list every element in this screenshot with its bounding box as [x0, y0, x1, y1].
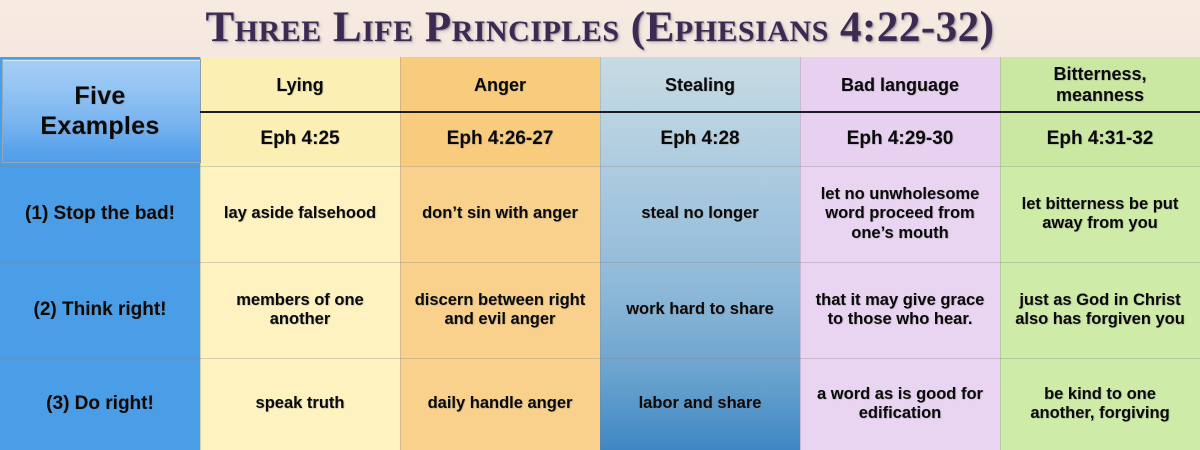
- cell-line: that it may give grace: [816, 291, 985, 310]
- table-cell: lay aside falsehood: [200, 166, 400, 262]
- table-cell: let bitterness be put away from you: [1000, 166, 1200, 262]
- cell-line: away from you: [1022, 214, 1179, 233]
- table-cell: a word as is good for edification: [800, 358, 1000, 450]
- column-header-label: Bitterness, meanness: [1007, 64, 1193, 106]
- column-header-stealing: Stealing: [600, 57, 800, 113]
- column-reference-label: Eph 4:26-27: [447, 128, 554, 150]
- cell-line: another, forgiving: [1030, 404, 1169, 423]
- cell-line: edification: [817, 404, 983, 423]
- column-header-label: Anger: [474, 75, 526, 96]
- cell-line: let no unwholesome: [821, 185, 980, 204]
- column-header-label: Bad language: [841, 75, 959, 96]
- column-header-lying: Lying: [200, 57, 400, 113]
- column-reference-label: Eph 4:31-32: [1047, 128, 1154, 150]
- cell-line: a word as is good for: [817, 385, 983, 404]
- cell-line: just as God in Christ: [1015, 291, 1185, 310]
- table-cell: labor and share: [600, 358, 800, 450]
- cell-line: lay aside falsehood: [224, 204, 376, 223]
- column-header-anger: Anger: [400, 57, 600, 113]
- column-reference-label: Eph 4:25: [260, 128, 339, 150]
- column-reference-bitterness: Eph 4:31-32: [1000, 113, 1200, 166]
- cell-line: speak truth: [256, 394, 345, 413]
- column-reference-lying: Eph 4:25: [200, 113, 400, 166]
- column-reference-stealing: Eph 4:28: [600, 113, 800, 166]
- column-reference-anger: Eph 4:26-27: [400, 113, 600, 166]
- cell-line: one’s mouth: [821, 224, 980, 243]
- cell-line: don’t sin with anger: [422, 204, 578, 223]
- table-cell: daily handle anger: [400, 358, 600, 450]
- cell-line: work hard to share: [626, 300, 774, 319]
- cell-line: also has forgiven you: [1015, 310, 1185, 329]
- column-header-bad-language: Bad language: [800, 57, 1000, 113]
- table-cell: let no unwholesome word proceed from one…: [800, 166, 1000, 262]
- cell-line: to those who hear.: [816, 310, 985, 329]
- table-cell: members of one another: [200, 262, 400, 358]
- cell-line: another: [236, 310, 363, 329]
- column-reference-label: Eph 4:28: [660, 128, 739, 150]
- row-label-text: (3) Do right!: [46, 393, 154, 415]
- table-cell: don’t sin with anger: [400, 166, 600, 262]
- cell-line: discern between right: [415, 291, 586, 310]
- cell-line: members of one: [236, 291, 363, 310]
- row-label-text: (2) Think right!: [34, 299, 167, 321]
- corner-cell-examples: Five Examples: [0, 57, 200, 166]
- table-cell: steal no longer: [600, 166, 800, 262]
- table-cell: that it may give grace to those who hear…: [800, 262, 1000, 358]
- table-cell: discern between right and evil anger: [400, 262, 600, 358]
- slide-canvas: Three Life Principles (Ephesians 4:22-32…: [0, 0, 1200, 450]
- corner-label-line1: Five: [40, 82, 159, 112]
- corner-label-line2: Examples: [40, 112, 159, 142]
- column-reference-bad-language: Eph 4:29-30: [800, 113, 1000, 166]
- table-cell: just as God in Christ also has forgiven …: [1000, 262, 1200, 358]
- row-label-do-right: (3) Do right!: [0, 358, 200, 450]
- row-label-stop-the-bad: (1) Stop the bad!: [0, 166, 200, 262]
- cell-line: daily handle anger: [428, 394, 573, 413]
- column-reference-label: Eph 4:29-30: [847, 128, 954, 150]
- table-cell: be kind to one another, forgiving: [1000, 358, 1200, 450]
- row-label-text: (1) Stop the bad!: [25, 203, 175, 225]
- column-header-bitterness: Bitterness, meanness: [1000, 57, 1200, 113]
- table-cell: work hard to share: [600, 262, 800, 358]
- cell-line: and evil anger: [415, 310, 586, 329]
- table-cell: speak truth: [200, 358, 400, 450]
- row-label-think-right: (2) Think right!: [0, 262, 200, 358]
- cell-line: word proceed from: [821, 204, 980, 223]
- column-header-label: Stealing: [665, 75, 735, 96]
- cell-line: be kind to one: [1030, 385, 1169, 404]
- cell-line: labor and share: [639, 394, 762, 413]
- cell-line: let bitterness be put: [1022, 195, 1179, 214]
- principles-table: Five Examples Lying Anger Stealing Bad l…: [0, 57, 1200, 450]
- column-header-label: Lying: [276, 75, 323, 96]
- cell-line: steal no longer: [641, 204, 758, 223]
